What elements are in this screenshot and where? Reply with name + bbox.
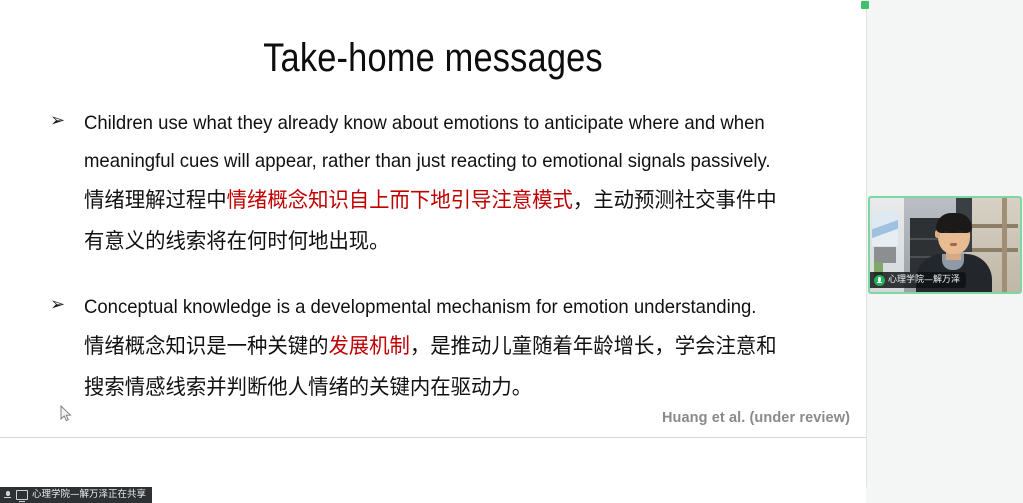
bullet-2-cn-highlight: 发展机制: [328, 334, 409, 358]
participant-name-label: 心理学院—解万泽: [888, 275, 960, 286]
slide-footer: 北京大学心理与认知科学学院 School of Psychological an…: [0, 438, 866, 487]
participant-video-tile[interactable]: 心理学院—解万泽: [868, 196, 1022, 294]
bullet-arrow-icon: ➢: [50, 104, 65, 138]
video-person-hair: [936, 213, 972, 233]
bullet-2-cn-pre: 情绪概念知识是一种关键的: [84, 334, 328, 358]
presentation-slide: Take-home messages ➢ Children use what t…: [0, 0, 866, 487]
bullet-1-cn-pre: 情绪理解过程中: [84, 188, 227, 212]
meeting-window: Take-home messages ➢ Children use what t…: [0, 0, 1023, 503]
taskbar-microphone-icon[interactable]: [3, 490, 12, 501]
video-person-mouth: [950, 243, 957, 246]
bullet-1-en-line-1: Children use what they already know abou…: [84, 104, 812, 142]
bullet-1-cn-line-1: 情绪理解过程中情绪概念知识自上而下地引导注意模式，主动预测社交事件中: [84, 180, 827, 221]
bullet-2-cn-line-2: 搜索情感线索并判断他人情绪的关键内在驱动力。: [84, 367, 827, 408]
slide-body: ➢ Children use what they already know ab…: [50, 104, 850, 408]
video-person-eye-right: [958, 231, 963, 233]
bullet-2-en-line-1: Conceptual knowledge is a developmental …: [84, 288, 812, 326]
screen-share-icon[interactable]: [16, 490, 28, 500]
bullet-1-text: Children use what they already know abou…: [84, 104, 850, 262]
shared-screen-area[interactable]: Take-home messages ➢ Children use what t…: [0, 0, 866, 487]
sidebar-bottom-filler: [866, 487, 1023, 503]
sharing-status-label: 心理学院—解万泽正在共享: [32, 489, 146, 501]
video-person-eye-left: [944, 231, 949, 233]
bullet-2-cn-post: ，是推动儿童随着年龄增长，学会注意和: [410, 334, 777, 358]
bullet-2-cn-line-1: 情绪概念知识是一种关键的发展机制，是推动儿童随着年龄增长，学会注意和: [84, 326, 827, 367]
bullet-1-cn-line-2: 有意义的线索将在何时何地出现。: [84, 221, 827, 262]
participant-name-tag: 心理学院—解万泽: [870, 272, 966, 288]
bullet-1-en-line-2: meaningful cues will appear, rather than…: [84, 142, 812, 180]
bullet-item-2: ➢ Conceptual knowledge is a developmenta…: [50, 288, 850, 408]
page-title: Take-home messages: [61, 34, 806, 82]
video-bg-rail-bar-1: [970, 224, 1018, 228]
status-indicator-icon: [861, 1, 869, 9]
screen-share-taskbar: 心理学院—解万泽正在共享: [0, 487, 866, 503]
video-bg-box: [874, 247, 896, 263]
video-bg-poster: [872, 212, 898, 246]
bullet-item-1: ➢ Children use what they already know ab…: [50, 104, 850, 262]
bullet-1-cn-post: ，主动预测社交事件中: [573, 188, 777, 212]
sharing-status-bar[interactable]: 心理学院—解万泽正在共享: [0, 487, 152, 503]
bullet-1-cn-highlight: 情绪概念知识自上而下地引导注意模式: [227, 188, 573, 212]
citation-text: Huang et al. (under review): [662, 410, 850, 426]
video-bg-rail-bar-2: [970, 248, 1018, 252]
video-bg-rail-post: [1002, 198, 1007, 292]
bullet-2-text: Conceptual knowledge is a developmental …: [84, 288, 850, 408]
bullet-arrow-icon-2: ➢: [50, 288, 65, 322]
microphone-icon[interactable]: [874, 275, 885, 286]
